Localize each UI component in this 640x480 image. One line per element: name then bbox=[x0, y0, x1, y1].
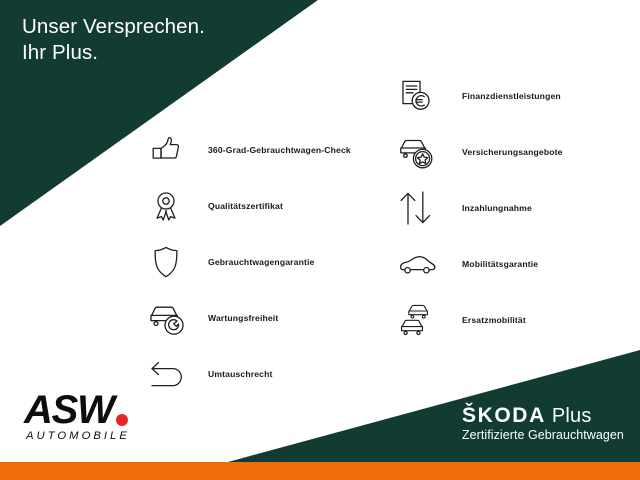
thumbs-up-icon bbox=[148, 124, 204, 176]
asw-wordmark: ASW bbox=[24, 392, 114, 429]
feature-label: Versicherungsangebote bbox=[462, 147, 563, 157]
page-title: Unser Versprechen. Ihr Plus. bbox=[22, 14, 205, 66]
feature-item-mobility: Mobilitätsgarantie bbox=[398, 236, 563, 292]
feature-item-tradein: Inzahlungnahme bbox=[398, 180, 563, 236]
promo-banner: Unser Versprechen. Ihr Plus. 360-Grad-Ge… bbox=[0, 0, 640, 480]
asw-subtitle: AUTOMOBILE bbox=[26, 430, 130, 442]
feature-item-check: 360-Grad-Gebrauchtwagen-Check bbox=[148, 122, 351, 178]
brand-logo-row: ŠKODA Plus bbox=[462, 405, 624, 426]
skoda-plus-label: Plus bbox=[552, 406, 592, 426]
feature-item-replacement: Ersatzmobilität bbox=[398, 292, 563, 348]
feature-label: Inzahlungnahme bbox=[462, 203, 532, 213]
asw-red-dot-icon bbox=[116, 414, 128, 426]
skoda-subtitle: Zertifizierte Gebrauchtwagen bbox=[462, 429, 624, 443]
feature-label: 360-Grad-Gebrauchtwagen-Check bbox=[208, 145, 351, 155]
headline-line-1: Unser Versprechen. bbox=[22, 14, 205, 40]
skoda-wordmark: ŠKODA bbox=[462, 405, 546, 426]
feature-item-financing: Finanzdienstleistungen bbox=[398, 68, 563, 124]
feature-list-right: Finanzdienstleistungen Versicherungsange… bbox=[398, 68, 563, 348]
feature-item-certificate: Qualitätszertifikat bbox=[148, 178, 351, 234]
car-wrench-icon bbox=[148, 292, 204, 344]
feature-label: Gebrauchtwagengarantie bbox=[208, 257, 314, 267]
feature-item-maintenance: Wartungsfreiheit bbox=[148, 290, 351, 346]
feature-item-warranty: Gebrauchtwagengarantie bbox=[148, 234, 351, 290]
dealer-logo: ASW AUTOMOBILE bbox=[24, 392, 130, 442]
feature-label: Wartungsfreiheit bbox=[208, 313, 278, 323]
feature-list-left: 360-Grad-Gebrauchtwagen-Check Qualitätsz… bbox=[148, 122, 351, 402]
orange-footer-bar bbox=[0, 462, 640, 480]
two-cars-icon bbox=[398, 294, 454, 346]
feature-label: Ersatzmobilität bbox=[462, 315, 526, 325]
asw-wordmark-row: ASW bbox=[24, 392, 130, 429]
shield-icon bbox=[148, 236, 204, 288]
car-star-icon bbox=[398, 126, 454, 178]
feature-label: Qualitätszertifikat bbox=[208, 201, 283, 211]
award-rosette-icon bbox=[148, 180, 204, 232]
car-side-icon bbox=[398, 238, 454, 290]
feature-label: Mobilitätsgarantie bbox=[462, 259, 538, 269]
headline-line-2: Ihr Plus. bbox=[22, 40, 205, 66]
feature-label: Finanzdienstleistungen bbox=[462, 91, 561, 101]
feature-label: Umtauschrecht bbox=[208, 369, 273, 379]
up-down-arrows-icon bbox=[398, 182, 454, 234]
feature-item-insurance: Versicherungsangebote bbox=[398, 124, 563, 180]
feature-item-return: Umtauschrecht bbox=[148, 346, 351, 402]
return-arrow-icon bbox=[148, 348, 204, 400]
brand-logo: ŠKODA Plus Zertifizierte Gebrauchtwagen bbox=[462, 405, 624, 443]
document-euro-icon bbox=[398, 70, 454, 122]
